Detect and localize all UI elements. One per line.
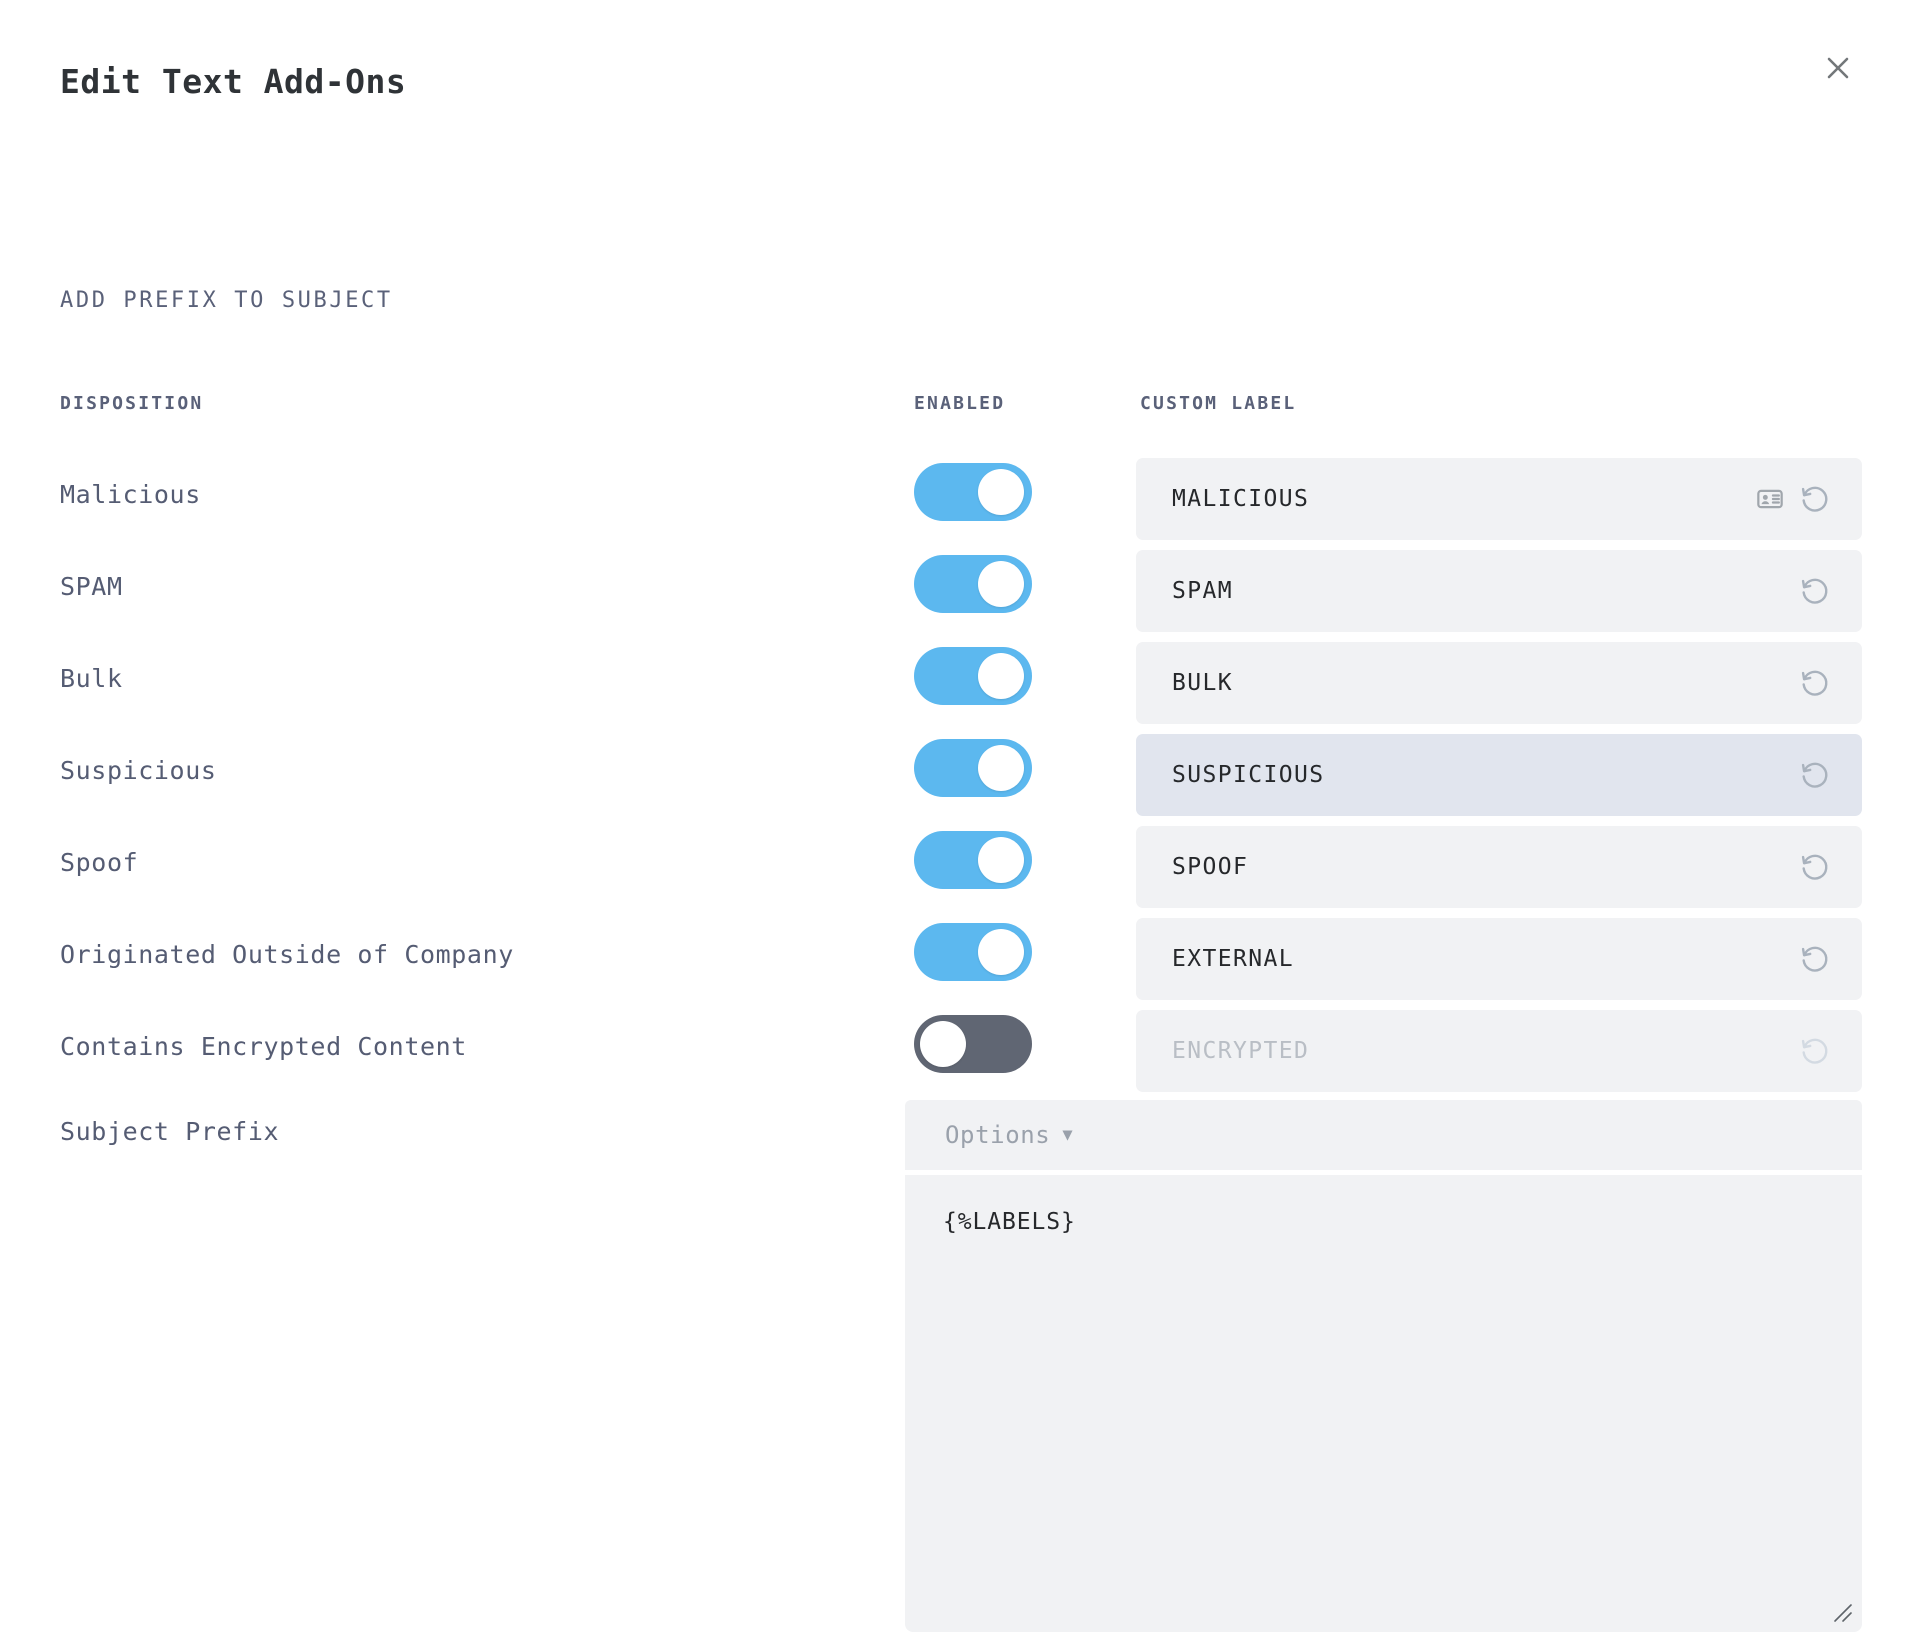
options-dropdown[interactable]: Options ▼ (905, 1100, 1862, 1170)
custom-label-input-malicious[interactable]: MALICIOUS (1136, 458, 1862, 540)
enabled-toggle-suspicious[interactable] (914, 739, 1032, 797)
toggle-knob (978, 745, 1024, 791)
field-icon-group (1756, 482, 1832, 516)
disposition-label-bulk: Bulk (60, 664, 123, 693)
custom-label-value: ENCRYPTED (1172, 1038, 1798, 1064)
reset-icon (1798, 1034, 1832, 1068)
subject-prefix-label: Subject Prefix (60, 1117, 279, 1146)
table-row: Originated Outside of CompanyEXTERNAL (0, 918, 1908, 1010)
custom-label-input-originated-outside-of-company[interactable]: EXTERNAL (1136, 918, 1862, 1000)
edit-text-addons-dialog: Edit Text Add-Ons ADD PREFIX TO SUBJECT … (0, 0, 1908, 1650)
column-header-disposition: DISPOSITION (60, 393, 203, 414)
custom-label-value: SUSPICIOUS (1172, 762, 1798, 788)
column-header-enabled: ENABLED (914, 393, 1005, 414)
custom-label-input-spam[interactable]: SPAM (1136, 550, 1862, 632)
disposition-rows: MaliciousMALICIOUSSPAMSPAMBulkBULKSuspic… (0, 458, 1908, 1102)
reset-icon[interactable] (1798, 574, 1832, 608)
contact-card-icon[interactable] (1756, 485, 1784, 513)
close-button[interactable] (1812, 42, 1864, 94)
chevron-down-icon: ▼ (1062, 1127, 1072, 1144)
table-row: SPAMSPAM (0, 550, 1908, 642)
enabled-toggle-spoof[interactable] (914, 831, 1032, 889)
custom-label-value: MALICIOUS (1172, 486, 1756, 512)
custom-label-value: SPAM (1172, 578, 1798, 604)
table-row: SuspiciousSUSPICIOUS (0, 734, 1908, 826)
custom-label-value: SPOOF (1172, 854, 1798, 880)
table-row: SpoofSPOOF (0, 826, 1908, 918)
enabled-toggle-spam[interactable] (914, 555, 1032, 613)
field-icon-group (1798, 666, 1832, 700)
reset-icon[interactable] (1798, 942, 1832, 976)
toggle-knob (978, 561, 1024, 607)
custom-label-input-contains-encrypted-content[interactable]: ENCRYPTED (1136, 1010, 1862, 1092)
custom-label-input-suspicious[interactable]: SUSPICIOUS (1136, 734, 1862, 816)
enabled-toggle-bulk[interactable] (914, 647, 1032, 705)
field-icon-group (1798, 1034, 1832, 1068)
close-icon (1823, 53, 1853, 83)
reset-icon[interactable] (1798, 666, 1832, 700)
disposition-label-suspicious: Suspicious (60, 756, 217, 785)
field-icon-group (1798, 758, 1832, 792)
subject-prefix-textarea[interactable]: {%LABELS} (905, 1175, 1862, 1632)
resize-grip-icon[interactable] (1832, 1602, 1854, 1624)
column-header-custom-label: CUSTOM LABEL (1140, 393, 1296, 414)
section-title: ADD PREFIX TO SUBJECT (60, 288, 393, 313)
disposition-label-spoof: Spoof (60, 848, 138, 877)
field-icon-group (1798, 850, 1832, 884)
options-dropdown-label: Options (945, 1121, 1050, 1149)
reset-icon[interactable] (1798, 758, 1832, 792)
custom-label-input-spoof[interactable]: SPOOF (1136, 826, 1862, 908)
disposition-label-originated-outside-of-company: Originated Outside of Company (60, 940, 514, 969)
reset-icon[interactable] (1798, 850, 1832, 884)
table-row: BulkBULK (0, 642, 1908, 734)
table-row: MaliciousMALICIOUS (0, 458, 1908, 550)
page-title: Edit Text Add-Ons (60, 62, 406, 101)
toggle-knob (920, 1021, 966, 1067)
disposition-label-malicious: Malicious (60, 480, 201, 509)
reset-icon[interactable] (1798, 482, 1832, 516)
toggle-knob (978, 653, 1024, 699)
enabled-toggle-originated-outside-of-company[interactable] (914, 923, 1032, 981)
enabled-toggle-contains-encrypted-content[interactable] (914, 1015, 1032, 1073)
disposition-label-spam: SPAM (60, 572, 123, 601)
disposition-label-contains-encrypted-content: Contains Encrypted Content (60, 1032, 467, 1061)
field-icon-group (1798, 942, 1832, 976)
custom-label-value: BULK (1172, 670, 1798, 696)
custom-label-input-bulk[interactable]: BULK (1136, 642, 1862, 724)
field-icon-group (1798, 574, 1832, 608)
toggle-knob (978, 929, 1024, 975)
enabled-toggle-malicious[interactable] (914, 463, 1032, 521)
custom-label-value: EXTERNAL (1172, 946, 1798, 972)
toggle-knob (978, 469, 1024, 515)
table-row: Contains Encrypted ContentENCRYPTED (0, 1010, 1908, 1102)
subject-prefix-value: {%LABELS} (943, 1209, 1076, 1235)
toggle-knob (978, 837, 1024, 883)
